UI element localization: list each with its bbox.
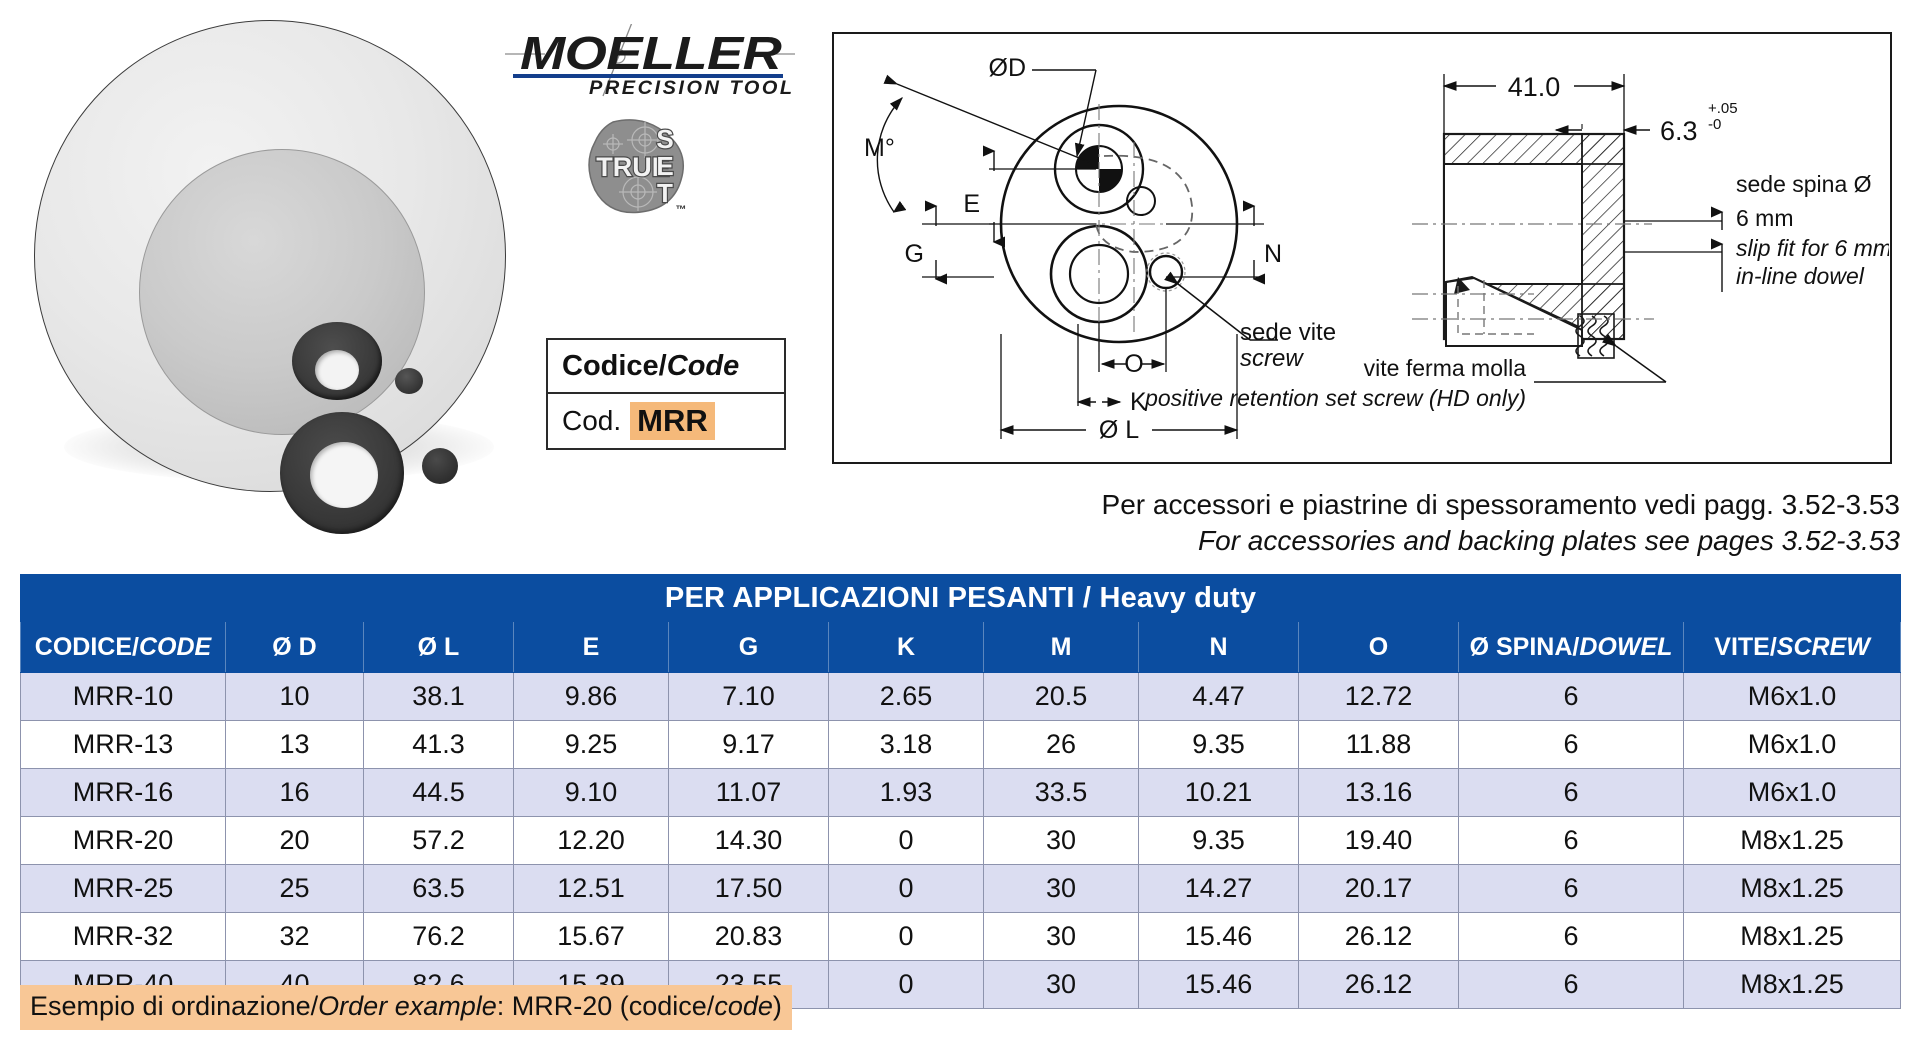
label-od: ØD [989, 54, 1027, 82]
table-title-cell: PER APPLICAZIONI PESANTI / Heavy duty [21, 575, 1901, 622]
cell-value: 26.12 [1299, 961, 1459, 1009]
table-body: MRR-101038.19.867.102.6520.54.4712.726M6… [21, 673, 1901, 1009]
table-row: MRR-161644.59.1011.071.9333.510.2113.166… [21, 769, 1901, 817]
col-header-code: CODICE/CODE [21, 622, 226, 673]
col-header-e-label: E [583, 633, 600, 661]
col-header-screw-en: SCREW [1777, 633, 1870, 661]
spec-table: PER APPLICAZIONI PESANTI / Heavy duty CO… [20, 574, 1901, 1009]
cell-value: 26.12 [1299, 913, 1459, 961]
technical-drawings-frame: ØD M° E G [832, 32, 1892, 464]
cell-value: 9.35 [1139, 817, 1299, 865]
cell-value: 0 [829, 961, 984, 1009]
note-dowel-en-2: in-line dowel [1736, 263, 1865, 289]
table-header-row: CODICE/CODE Ø D Ø L E G K M N O Ø SPINA/… [21, 622, 1901, 673]
label-n: N [1264, 240, 1282, 268]
order-example-it: Esempio di ordinazione/ [30, 991, 318, 1021]
code-prefix: Cod. [562, 405, 621, 437]
accessories-note-en: For accessories and backing plates see p… [0, 523, 1900, 559]
col-header-od: Ø D [226, 622, 364, 673]
cell-value: M8x1.25 [1684, 865, 1901, 913]
col-header-n-label: N [1209, 633, 1227, 661]
retainer-body [34, 20, 506, 492]
col-header-code-it: CODICE/ [35, 633, 139, 661]
cell-value: 25 [226, 865, 364, 913]
badge-t-text: T [657, 178, 673, 208]
col-header-k: K [829, 622, 984, 673]
col-header-k-label: K [897, 633, 915, 661]
label-g: G [905, 240, 924, 268]
col-header-screw: VITE/SCREW [1684, 622, 1901, 673]
col-header-e: E [514, 622, 669, 673]
cell-value: 15.46 [1139, 961, 1299, 1009]
col-header-o: O [1299, 622, 1459, 673]
label-ol: Ø L [1099, 416, 1139, 444]
cell-value: M6x1.0 [1684, 673, 1901, 721]
brand-name: MOELLER [520, 26, 781, 80]
note-dowel-it-2: 6 mm [1736, 205, 1794, 231]
note-screw-en: positive retention set screw (HD only) [1144, 385, 1526, 411]
tol-plus: +.05 [1708, 100, 1738, 117]
cell-value: 63.5 [364, 865, 514, 913]
cell-value: 12.20 [514, 817, 669, 865]
col-header-o-label: O [1369, 633, 1388, 661]
cell-value: 3.18 [829, 721, 984, 769]
cell-value: 11.88 [1299, 721, 1459, 769]
cell-value: 10 [226, 673, 364, 721]
true-set-badge-icon: TRUE S E T ™ [583, 114, 693, 219]
cell-value: 76.2 [364, 913, 514, 961]
label-e: E [963, 190, 980, 218]
header-section: MOELLER PRECISION TOOL TRUE S E T ™ [0, 0, 1920, 566]
cell-value: 17.50 [669, 865, 829, 913]
cell-value: 15.46 [1139, 913, 1299, 961]
col-header-ol-label: Ø L [418, 633, 460, 661]
code-header-it: Codice/ [562, 350, 667, 383]
table-title-en: Heavy duty [1099, 582, 1256, 614]
cell-value: 30 [984, 817, 1139, 865]
cell-value: 1.93 [829, 769, 984, 817]
cell-value: M8x1.25 [1684, 961, 1901, 1009]
cell-value: 9.86 [514, 673, 669, 721]
note-dowel-it-1: sede spina Ø [1736, 171, 1872, 197]
cell-value: 9.10 [514, 769, 669, 817]
cell-value: 11.07 [669, 769, 829, 817]
cell-value: 12.72 [1299, 673, 1459, 721]
cell-value: M8x1.25 [1684, 913, 1901, 961]
table-row: MRR-202057.212.2014.300309.3519.406M8x1.… [21, 817, 1901, 865]
cell-value: 4.47 [1139, 673, 1299, 721]
cell-value: 14.30 [669, 817, 829, 865]
cell-value: 30 [984, 961, 1139, 1009]
note-dowel-en-1: slip fit for 6 mm [1736, 235, 1889, 261]
note-screw-it: vite ferma molla [1364, 355, 1527, 381]
col-header-g-label: G [739, 633, 758, 661]
cell-value: M6x1.0 [1684, 721, 1901, 769]
cell-value: 6 [1459, 961, 1684, 1009]
cell-value: 6 [1459, 673, 1684, 721]
cell-value: 0 [829, 817, 984, 865]
dim-length: 41.0 [1508, 72, 1561, 102]
col-header-dowel-it: Ø SPINA/ [1470, 633, 1580, 661]
technical-drawings-svg: ØD M° E G [834, 34, 1889, 461]
true-set-badge: TRUE S E T ™ [583, 114, 693, 219]
code-box-value-row: Cod.MRR [548, 394, 784, 448]
table-title-row: PER APPLICAZIONI PESANTI / Heavy duty [21, 575, 1901, 622]
table-row: MRR-131341.39.259.173.18269.3511.886M6x1… [21, 721, 1901, 769]
order-example-tail-close: ) [773, 991, 782, 1021]
cell-value: 20.83 [669, 913, 829, 961]
cell-value: 0 [829, 865, 984, 913]
table-title-it: PER APPLICAZIONI PESANTI / [665, 582, 1100, 614]
label-m: M° [864, 134, 895, 162]
badge-e-text: E [656, 151, 673, 181]
cell-value: 12.51 [514, 865, 669, 913]
cell-value: 13.16 [1299, 769, 1459, 817]
cell-value: M8x1.25 [1684, 817, 1901, 865]
order-example-tail: : MRR-20 (codice/ [497, 991, 715, 1021]
cell-code: MRR-10 [21, 673, 226, 721]
order-example-en: Order example [318, 991, 497, 1021]
cell-code: MRR-16 [21, 769, 226, 817]
counterbore-inner-hole [315, 350, 359, 390]
dim-depth: 6.3 [1660, 116, 1698, 146]
cell-value: 41.3 [364, 721, 514, 769]
code-box-header-row: Codice/Code [548, 340, 784, 394]
col-header-code-en: CODE [139, 633, 211, 661]
brand-wordmark-group: MOELLER PRECISION TOOL [505, 26, 795, 96]
cell-value: 14.27 [1139, 865, 1299, 913]
badge-s-text: S [656, 124, 673, 154]
table-row: MRR-101038.19.867.102.6520.54.4712.726M6… [21, 673, 1901, 721]
product-photo [28, 14, 528, 514]
cell-value: 6 [1459, 817, 1684, 865]
accessories-note: Per accessori e piastrine di spessoramen… [0, 487, 1900, 559]
cell-value: 33.5 [984, 769, 1139, 817]
col-header-n: N [1139, 622, 1299, 673]
cell-code: MRR-13 [21, 721, 226, 769]
order-example-banner: Esempio di ordinazione/Order example: MR… [20, 985, 792, 1030]
cell-value: 7.10 [669, 673, 829, 721]
brand-tagline: PRECISION TOOL [589, 78, 795, 100]
cell-value: M6x1.0 [1684, 769, 1901, 817]
brand-logo: MOELLER PRECISION TOOL TRUE S E T ™ [505, 26, 805, 226]
cell-value: 15.67 [514, 913, 669, 961]
col-header-od-label: Ø D [272, 633, 316, 661]
col-header-m-label: M [1051, 633, 1072, 661]
cell-value: 10.21 [1139, 769, 1299, 817]
col-header-g: G [669, 622, 829, 673]
tol-minus: -0 [1708, 116, 1721, 133]
cell-value: 6 [1459, 865, 1684, 913]
cell-value: 6 [1459, 721, 1684, 769]
retainer-face [139, 149, 425, 435]
code-value: MRR [630, 402, 715, 440]
cell-value: 38.1 [364, 673, 514, 721]
callout-screw-en: screw [1240, 345, 1304, 372]
cell-value: 2.65 [829, 673, 984, 721]
cell-value: 6 [1459, 769, 1684, 817]
badge-tm-text: ™ [676, 204, 687, 216]
cell-value: 20.5 [984, 673, 1139, 721]
cell-value: 44.5 [364, 769, 514, 817]
cell-value: 13 [226, 721, 364, 769]
code-header-en: Code [667, 350, 740, 383]
cell-value: 20 [226, 817, 364, 865]
cell-value: 30 [984, 865, 1139, 913]
cell-value: 0 [829, 913, 984, 961]
code-box: Codice/Code Cod.MRR [546, 338, 786, 450]
accessories-note-it: Per accessori e piastrine di spessoramen… [0, 487, 1900, 523]
callout-screw-it: sede vite [1240, 319, 1336, 346]
cell-code: MRR-32 [21, 913, 226, 961]
col-header-screw-it: VITE/ [1714, 633, 1777, 661]
cell-code: MRR-20 [21, 817, 226, 865]
label-o: O [1124, 350, 1143, 378]
table-row: MRR-323276.215.6720.8303015.4626.126M8x1… [21, 913, 1901, 961]
col-header-ol: Ø L [364, 622, 514, 673]
cell-value: 9.17 [669, 721, 829, 769]
cell-code: MRR-25 [21, 865, 226, 913]
cell-value: 32 [226, 913, 364, 961]
col-header-dowel: Ø SPINA/DOWEL [1459, 622, 1684, 673]
cell-value: 9.35 [1139, 721, 1299, 769]
cell-value: 26 [984, 721, 1139, 769]
cell-value: 6 [1459, 913, 1684, 961]
cell-value: 30 [984, 913, 1139, 961]
cell-value: 57.2 [364, 817, 514, 865]
col-header-m: M [984, 622, 1139, 673]
screw-seat-hole [422, 448, 458, 484]
cell-value: 9.25 [514, 721, 669, 769]
dowel-hole [395, 368, 423, 394]
table-row: MRR-252563.512.5117.5003014.2720.176M8x1… [21, 865, 1901, 913]
cell-value: 20.17 [1299, 865, 1459, 913]
cell-value: 19.40 [1299, 817, 1459, 865]
cell-value: 16 [226, 769, 364, 817]
col-header-dowel-en: DOWEL [1579, 633, 1672, 661]
order-example-tail-en: code [714, 991, 773, 1021]
spec-table-container: PER APPLICAZIONI PESANTI / Heavy duty CO… [20, 574, 1900, 1009]
